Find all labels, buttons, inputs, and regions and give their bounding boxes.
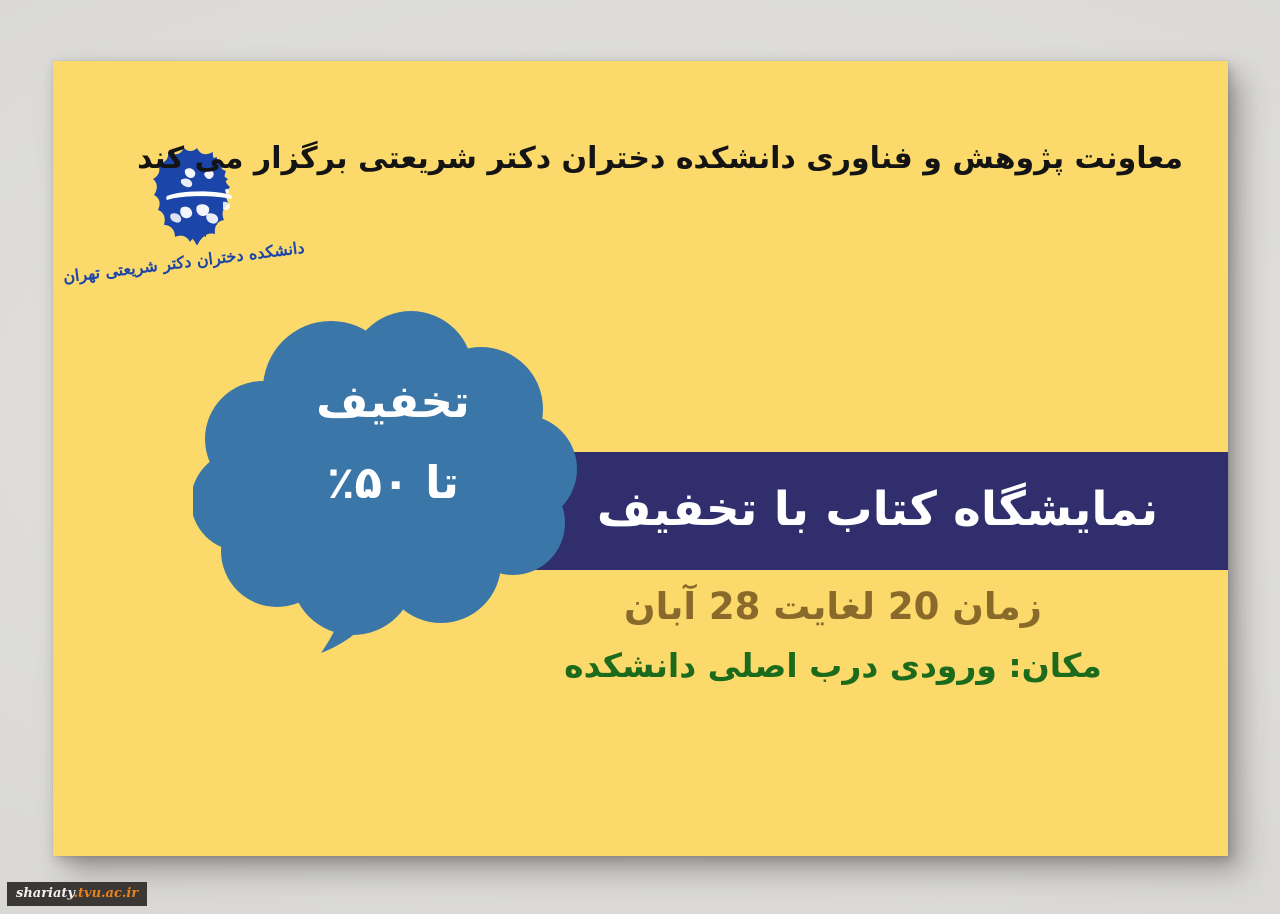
event-details: زمان 20 لغایت 28 آبان مکان: ورودی درب اص… xyxy=(483,586,1183,684)
watermark-site-name: shariaty xyxy=(16,886,73,901)
site-watermark: shariaty.tvu.ac.ir xyxy=(7,882,147,906)
poster-canvas: دانشکده دختران دکتر شریعتی تهران معاونت … xyxy=(53,61,1228,856)
main-title-text: نمایشگاه کتاب با تخفیف xyxy=(597,482,1158,537)
main-title-banner: نمایشگاه کتاب با تخفیف xyxy=(527,452,1228,570)
watermark-domain: .tvu.ac.ir xyxy=(73,886,138,901)
event-location: مکان: ورودی درب اصلی دانشکده xyxy=(483,647,1183,685)
poster-headline: معاونت پژوهش و فناوری دانشکده دختران دکت… xyxy=(353,139,1183,180)
event-date: زمان 20 لغایت 28 آبان xyxy=(483,586,1183,629)
